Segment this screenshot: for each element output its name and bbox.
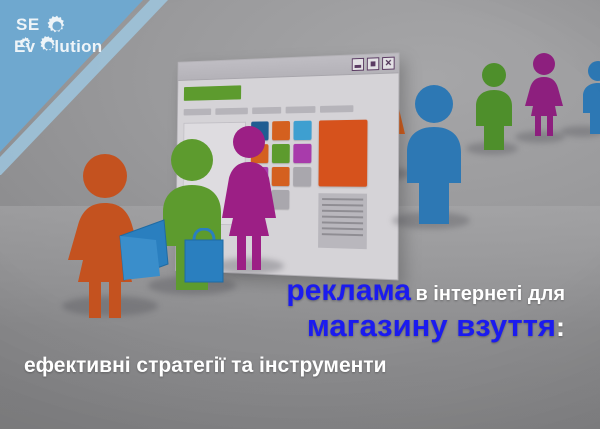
headline-line-1: реклама в інтернеті для bbox=[0, 276, 600, 307]
brand-logo-line2-suffix: lution bbox=[54, 37, 102, 56]
headline-line-3: ефективні стратегії та інструменти bbox=[0, 355, 600, 376]
headline-line1-white: в інтернеті для bbox=[415, 283, 565, 305]
brand-logo-line1: SE bbox=[16, 16, 40, 33]
promo-banner-canvas: ✕ bbox=[0, 0, 600, 429]
headline-line3-white: ефективні стратегії та інструменти bbox=[24, 354, 387, 377]
headline-line2-colon: : bbox=[556, 312, 565, 342]
headline-line2-blue: магазину взуття bbox=[307, 308, 556, 343]
brand-logo[interactable]: SE Evlution bbox=[14, 16, 126, 66]
headline-line-2: магазину взуття: bbox=[0, 310, 600, 342]
brand-logo-line2-prefix: Ev bbox=[14, 37, 35, 56]
headline-block: реклама в інтернеті для магазину взуття:… bbox=[0, 276, 600, 377]
gear-o-small-icon bbox=[38, 35, 59, 56]
headline-line1-blue: реклама bbox=[286, 274, 411, 307]
